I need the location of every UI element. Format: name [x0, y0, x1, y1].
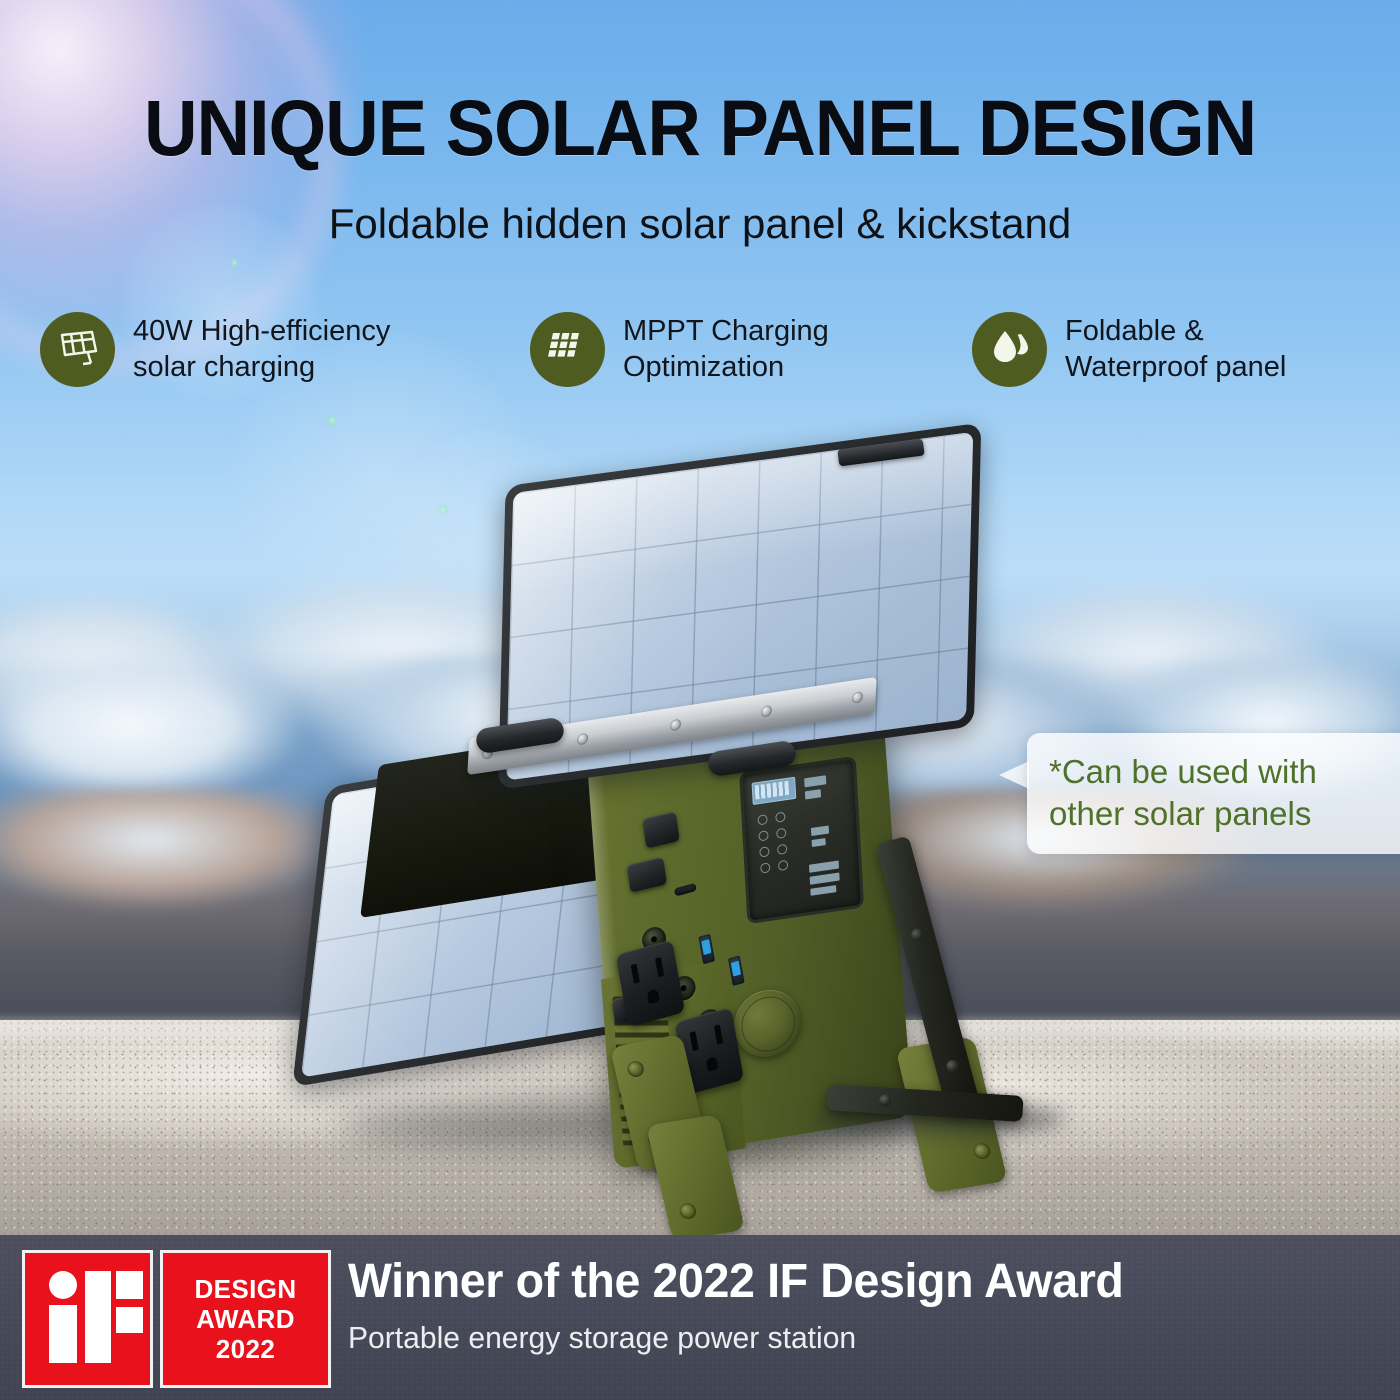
if-logo-f-top-icon — [116, 1271, 143, 1299]
dc-power-button[interactable] — [627, 857, 667, 893]
callout-tail — [999, 761, 1029, 789]
if-logo-f-mid-icon — [116, 1307, 143, 1333]
feature-icon-badge — [972, 312, 1047, 387]
page-subtitle: Foldable hidden solar panel & kickstand — [0, 200, 1400, 248]
award-title: Winner of the 2022 IF Design Award — [348, 1258, 1357, 1306]
award-badge-line-1: DESIGN — [194, 1275, 296, 1303]
if-logo-i-stem-icon — [49, 1305, 77, 1363]
feature-icon-badge — [530, 312, 605, 387]
design-award-badge: DESIGN AWARD 2022 — [160, 1250, 331, 1388]
ac-dc-power-button[interactable] — [642, 811, 680, 848]
feature-label: MPPT Charging Optimization — [623, 314, 829, 385]
if-logo-f-stem-icon — [85, 1271, 111, 1363]
feature-item-mppt: MPPT Charging Optimization — [530, 312, 829, 387]
solar-cell-grid-icon — [548, 327, 588, 372]
award-subtitle: Portable energy storage power station — [348, 1322, 1357, 1353]
feature-item-waterproof: Foldable & Waterproof panel — [972, 312, 1286, 387]
battery-level-indicator — [752, 777, 797, 805]
callout-bubble: *Can be used with other solar panels — [1027, 733, 1400, 854]
award-badge-line-3: 2022 — [216, 1335, 275, 1363]
car-outlet-port[interactable] — [729, 982, 805, 1064]
solar-panel-outline-icon — [56, 327, 100, 372]
award-badge-line-2: AWARD — [196, 1305, 295, 1333]
feature-list: 40W High-efficiency solar charging — [0, 312, 1400, 417]
product-marketing-banner: UNIQUE SOLAR PANEL DESIGN Foldable hidde… — [0, 0, 1400, 1400]
ac-outlet-1[interactable] — [616, 940, 686, 1028]
lens-sparkle-icon — [230, 258, 239, 267]
product-image — [290, 440, 1110, 1200]
water-droplets-icon — [989, 326, 1031, 373]
feature-label: 40W High-efficiency solar charging — [133, 314, 390, 385]
callout-text: *Can be used with other solar panels — [1049, 751, 1400, 834]
if-logo-i-dot-icon — [49, 1271, 77, 1299]
kickstand-leg — [876, 836, 981, 1113]
usb-a-port-1[interactable] — [698, 934, 715, 965]
usb-c-port[interactable] — [674, 883, 697, 897]
feature-label: Foldable & Waterproof panel — [1065, 314, 1286, 385]
page-title: UNIQUE SOLAR PANEL DESIGN — [42, 88, 1358, 167]
feature-icon-badge — [40, 312, 115, 387]
feature-item-solar-charging: 40W High-efficiency solar charging — [40, 312, 390, 387]
if-logo-badge — [22, 1250, 153, 1388]
kickstand — [835, 840, 1025, 1130]
